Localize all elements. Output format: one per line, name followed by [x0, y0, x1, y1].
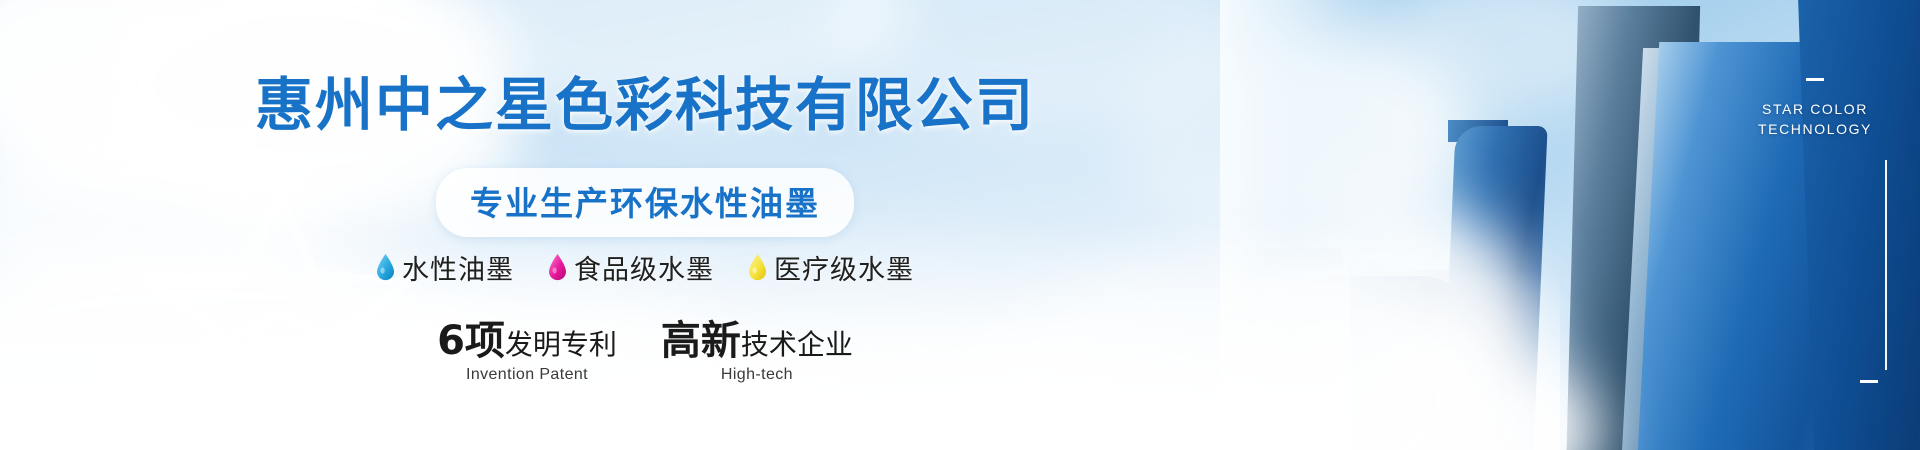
feature-item-2: 医疗级水墨 — [748, 248, 914, 287]
brand-dash-top — [1806, 78, 1824, 81]
feature-label-0: 水性油墨 — [402, 248, 514, 287]
corner-brand-line1: STAR COLOR — [1758, 99, 1872, 119]
water-drop-icon — [376, 254, 395, 281]
subtitle-pill-wrap: 专业生产环保水性油墨 — [0, 168, 1290, 237]
badge-highlight-0: 6项 — [437, 318, 505, 364]
badge-invention-patent: 6项发明专利 Invention Patent — [437, 320, 617, 384]
badge-rest-0: 发明专利 — [505, 328, 617, 361]
credential-badges: 6项发明专利 Invention Patent 高新技术企业 High-tech — [0, 320, 1290, 384]
subtitle-pill: 专业生产环保水性油墨 — [436, 168, 854, 237]
feature-item-1: 食品级水墨 — [548, 248, 714, 287]
building-right — [1798, 0, 1920, 450]
brand-dash-bottom — [1860, 380, 1878, 383]
badge-highlight-1: 高新 — [661, 318, 741, 364]
corner-brand: STAR COLOR TECHNOLOGY — [1758, 78, 1872, 139]
badge-high-tech: 高新技术企业 High-tech — [661, 320, 853, 384]
badge-main-1: 高新技术企业 — [661, 320, 853, 362]
feature-list: 水性油墨 食品级水墨 — [0, 248, 1290, 287]
badge-english-1: High-tech — [661, 366, 853, 384]
badge-english-0: Invention Patent — [437, 366, 617, 384]
corner-brand-line2: TECHNOLOGY — [1758, 119, 1872, 139]
badge-main-0: 6项发明专利 — [437, 320, 617, 362]
page-title: 惠州中之星色彩科技有限公司 — [0, 58, 1290, 142]
badge-rest-1: 技术企业 — [741, 328, 853, 361]
feature-label-2: 医疗级水墨 — [774, 248, 914, 287]
brand-vertical-rule — [1885, 160, 1887, 370]
water-drop-icon — [748, 254, 767, 281]
subtitle-text: 专业生产环保水性油墨 — [470, 184, 820, 223]
banner-content: 惠州中之星色彩科技有限公司 专业生产环保水性油墨 水性油墨 — [0, 0, 1290, 450]
feature-item-0: 水性油墨 — [376, 248, 514, 287]
feature-label-1: 食品级水墨 — [574, 248, 714, 287]
water-drop-icon — [548, 254, 567, 281]
promo-banner: Star Color STAR COLOR TECHNOLOGY 惠州中之星色彩… — [0, 0, 1920, 450]
